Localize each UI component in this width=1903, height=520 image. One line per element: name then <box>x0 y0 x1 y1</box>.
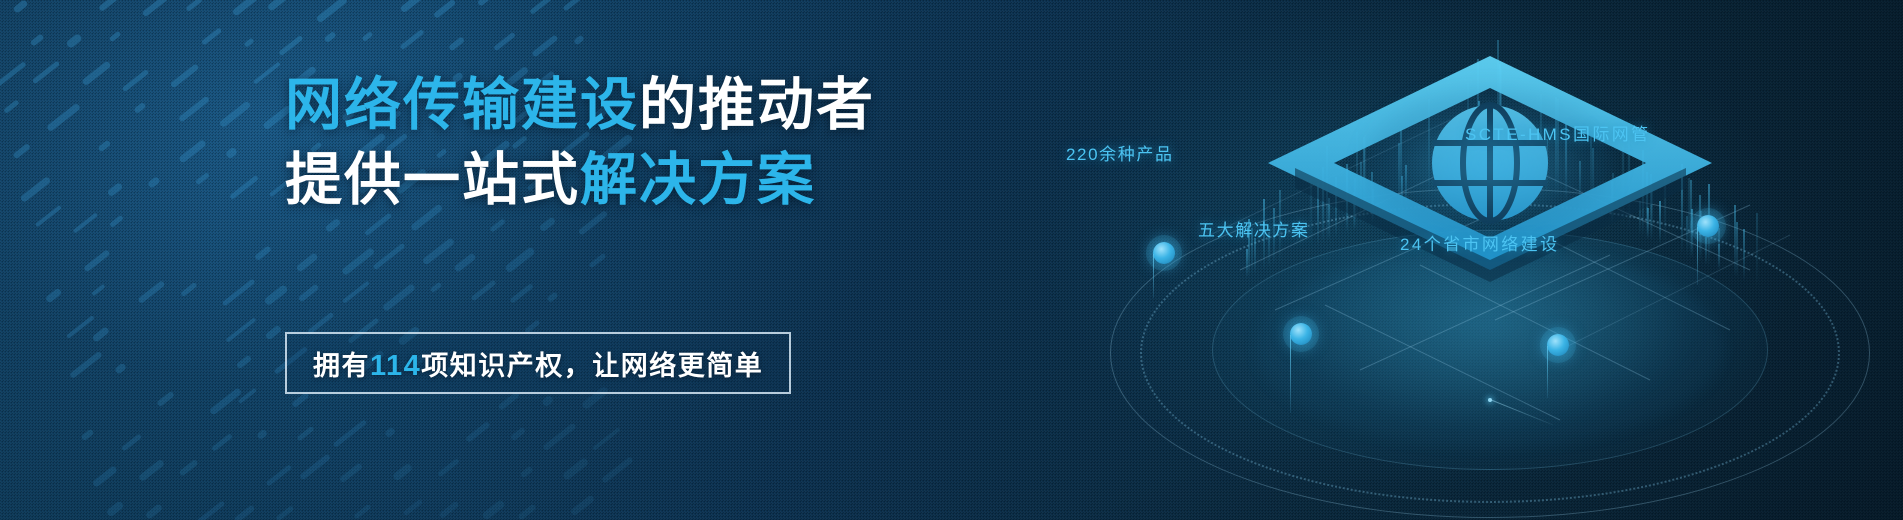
headline-line-2: 提供一站式解决方案 <box>285 143 1185 218</box>
map-pin-icon-2 <box>1290 323 1312 345</box>
tagline-box: 拥有114项知识产权，让网络更简单 <box>285 332 791 394</box>
map-pin-icon-1 <box>1153 242 1175 264</box>
headline-block: 网络传输建设的推动者 提供一站式解决方案 <box>285 68 1185 218</box>
map-pin-icon-3 <box>1547 334 1569 356</box>
headline-line-1: 网络传输建设的推动者 <box>285 68 1185 143</box>
marker-stem-4 <box>1697 227 1698 285</box>
hero-banner: 网络传输建设的推动者 提供一站式解决方案 拥有114项知识产权，让网络更简单 <box>0 0 1903 520</box>
marker-label-2: 五大解决方案 <box>1198 216 1310 241</box>
marker-label-4: SCTE-HMS国际网管 <box>1465 120 1651 145</box>
headline-1-accent: 网络传输建设 <box>285 73 639 137</box>
map-pin-icon-4 <box>1697 215 1719 237</box>
headline-2-accent: 解决方案 <box>580 148 816 212</box>
tagline-number: 114 <box>370 350 421 382</box>
network-platform-graphic: 220余种产品 五大解决方案 24个省市网络建设 SCTE-HMS国际网管 <box>1090 20 1890 510</box>
tagline-prefix: 拥有 <box>313 351 370 381</box>
headline-1-plain: 的推动者 <box>639 73 875 137</box>
marker-stem-2 <box>1290 335 1291 413</box>
headline-2-plain: 提供一站式 <box>285 148 580 212</box>
tagline-suffix: 项知识产权，让网络更简单 <box>421 351 763 381</box>
marker-stem-3 <box>1547 346 1548 398</box>
marker-label-1: 220余种产品 <box>1066 140 1174 165</box>
marker-label-3: 24个省市网络建设 <box>1400 230 1560 255</box>
tagline-text: 拥有114项知识产权，让网络更简单 <box>313 344 763 383</box>
marker-stem-1 <box>1153 254 1154 298</box>
diamond-base-shadow <box>1090 20 1890 510</box>
